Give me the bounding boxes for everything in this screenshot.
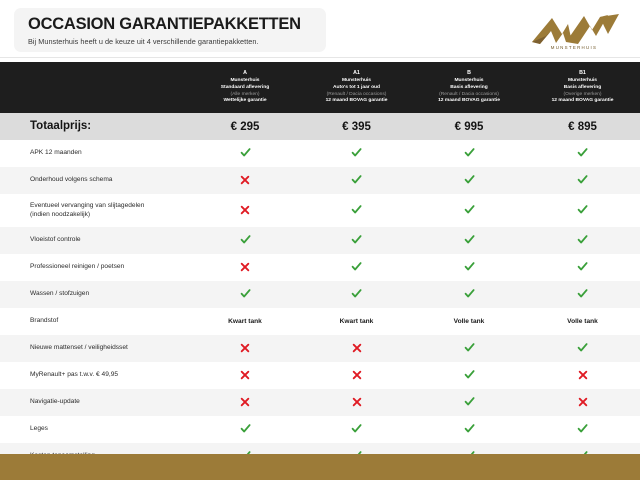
cross-icon [578,397,588,407]
check-icon [577,261,588,272]
page-subtitle: Bij Munsterhuis heeft u de keuze uit 4 v… [28,37,314,46]
table-row: BrandstofKwart tankKwart tankVolle tankV… [0,308,640,335]
check-icon [240,423,251,434]
table-row: APK 12 maanden [0,140,640,167]
check-icon [464,396,475,407]
page-title: OCCASION GARANTIEPAKKETTEN [28,16,314,33]
total-price-label: Totaalprijs: [0,119,190,134]
check-mark [464,261,475,272]
check-mark [577,261,588,272]
cell-included [190,234,300,247]
column-package: Basis aflevering [413,85,525,92]
cell-included [190,147,300,160]
feature-label: Navigatie-update [0,398,190,407]
feature-label: APK 12 maanden [0,149,190,158]
cross-icon [240,397,250,407]
check-icon [464,261,475,272]
cell-excluded [190,175,300,187]
garantiepakketten-page: OCCASION GARANTIEPAKKETTEN Bij Munsterhu… [0,0,640,480]
cross-icon [240,205,250,215]
check-icon [351,288,362,299]
check-mark [464,342,475,353]
table-row: Wassen / stofzuigen [0,281,640,308]
check-mark [464,234,475,245]
cell-included [525,174,640,187]
cell-included [300,147,413,160]
check-icon [464,423,475,434]
column-header-a1: A1 Munsterhuis Auto's tot 1 jaar oud (Re… [300,70,413,106]
cell-included [413,174,525,187]
cell-included [300,234,413,247]
cell-text-value: Kwart tank [300,318,413,325]
cell-included [525,234,640,247]
column-code: B1 [525,70,640,78]
cell-included [413,261,525,274]
check-icon [464,204,475,215]
table-body: APK 12 maandenOnderhoud volgens schemaEv… [0,140,640,470]
check-icon [464,288,475,299]
check-icon [240,288,251,299]
cell-excluded [525,370,640,382]
column-header-b: B Munsterhuis Basis aflevering (Renault … [413,70,525,106]
cross-icon [352,397,362,407]
check-mark [577,174,588,185]
cell-included [525,423,640,436]
table-row: MyRenault+ pas t.w.v. € 49,95 [0,362,640,389]
check-mark [240,288,251,299]
cross-mark [578,370,588,380]
check-mark [351,174,362,185]
check-mark [464,147,475,158]
column-brand: Munsterhuis [190,78,300,85]
cross-mark [240,205,250,215]
column-package: Standaard aflevering [190,85,300,92]
cross-icon [352,343,362,353]
check-icon [351,204,362,215]
column-package: Basis aflevering [525,85,640,92]
header-divider [0,57,640,58]
check-mark [351,204,362,215]
cross-mark [240,370,250,380]
cell-value-text: Volle tank [454,318,485,325]
check-mark [464,423,475,434]
total-price-row: Totaalprijs: € 295 € 395 € 995 € 895 [0,113,640,140]
check-icon [351,234,362,245]
cell-included [300,423,413,436]
cell-text-value: Volle tank [525,318,640,325]
check-icon [351,147,362,158]
cross-mark [240,175,250,185]
cross-mark [352,370,362,380]
check-icon [351,423,362,434]
check-icon [351,261,362,272]
feature-label-line: (indien noodzakelijk) [30,211,182,220]
cell-included [413,234,525,247]
check-mark [464,369,475,380]
feature-label: Brandstof [0,317,190,326]
check-mark [351,234,362,245]
cell-excluded [300,397,413,409]
check-icon [351,174,362,185]
cell-included [300,261,413,274]
column-package: Auto's tot 1 jaar oud [300,85,413,92]
check-icon [577,204,588,215]
title-card: OCCASION GARANTIEPAKKETTEN Bij Munsterhu… [14,8,326,52]
cell-excluded [300,370,413,382]
check-icon [464,369,475,380]
feature-label: MyRenault+ pas t.w.v. € 49,95 [0,371,190,380]
cell-text-value: Volle tank [413,318,525,325]
check-icon [464,147,475,158]
cross-icon [240,262,250,272]
table-row: Vloeistof controle [0,227,640,254]
price-a1: € 395 [300,121,413,133]
comparison-table: A Munsterhuis Standaard aflevering (Alle… [0,62,640,470]
column-code: A [190,70,300,78]
price-b: € 995 [413,121,525,133]
column-brand: Munsterhuis [300,78,413,85]
check-icon [577,423,588,434]
feature-label-line: Eventueel vervanging van slijtagedelen [30,202,182,211]
check-mark [577,288,588,299]
column-brand: Munsterhuis [413,78,525,85]
cross-mark [352,343,362,353]
check-icon [240,234,251,245]
column-header-a: A Munsterhuis Standaard aflevering (Alle… [190,70,300,106]
cell-excluded [190,205,300,217]
cell-excluded [190,397,300,409]
check-icon [464,234,475,245]
cell-excluded [190,343,300,355]
feature-label: Vloeistof controle [0,236,190,245]
feature-label: Nieuwe mattenset / veiligheidsset [0,344,190,353]
check-mark [577,234,588,245]
cell-included [300,174,413,187]
cell-included [413,204,525,217]
check-mark [351,423,362,434]
check-mark [577,423,588,434]
check-mark [351,147,362,158]
check-icon [577,234,588,245]
cross-icon [578,370,588,380]
cell-value-text: Kwart tank [228,318,262,325]
logo-wordmark: MUNSTERHUIS [551,45,598,50]
check-mark [577,204,588,215]
cross-icon [352,370,362,380]
column-brand: Munsterhuis [525,78,640,85]
cell-included [525,288,640,301]
column-warranty: 12 maand BOVAG garantie [525,98,640,105]
check-mark [577,147,588,158]
check-mark [464,174,475,185]
check-mark [240,423,251,434]
check-mark [464,288,475,299]
check-mark [240,147,251,158]
check-icon [464,342,475,353]
feature-label: Onderhoud volgens schema [0,176,190,185]
column-header-b1: B1 Munsterhuis Basis aflevering (Overige… [525,70,640,106]
table-row: Leges [0,416,640,443]
cross-icon [240,343,250,353]
column-code: B [413,70,525,78]
price-b1: € 895 [525,121,640,133]
cell-included [413,369,525,382]
cell-text-value: Kwart tank [190,318,300,325]
cell-included [525,342,640,355]
cell-included [190,288,300,301]
cross-mark [240,397,250,407]
price-a: € 295 [190,121,300,133]
table-row: Navigatie-update [0,389,640,416]
cell-included [525,147,640,160]
column-warranty: 12 maand BOVAG garantie [413,98,525,105]
table-row: Eventueel vervanging van slijtagedelen(i… [0,194,640,227]
column-code: A1 [300,70,413,78]
munsterhuis-logo: MUNSTERHUIS [522,12,626,52]
check-mark [351,261,362,272]
cell-excluded [190,370,300,382]
table-row: Nieuwe mattenset / veiligheidsset [0,335,640,362]
check-icon [577,147,588,158]
cell-included [413,423,525,436]
table-header-row: A Munsterhuis Standaard aflevering (Alle… [0,62,640,113]
cross-mark [578,397,588,407]
cell-included [525,204,640,217]
check-icon [240,147,251,158]
check-mark [351,288,362,299]
table-row: Onderhoud volgens schema [0,167,640,194]
check-mark [577,342,588,353]
feature-label: Eventueel vervanging van slijtagedelen(i… [0,202,190,219]
cross-mark [240,343,250,353]
check-icon [577,342,588,353]
cell-excluded [190,262,300,274]
cross-mark [352,397,362,407]
cell-included [413,147,525,160]
cell-included [300,288,413,301]
cell-value-text: Kwart tank [340,318,374,325]
cell-included [300,204,413,217]
page-header: OCCASION GARANTIEPAKKETTEN Bij Munsterhu… [0,0,640,62]
check-icon [577,288,588,299]
cross-icon [240,175,250,185]
cell-included [525,261,640,274]
cell-included [413,396,525,409]
cell-value-text: Volle tank [567,318,598,325]
column-warranty: Wettelijke garantie [190,98,300,105]
check-mark [464,396,475,407]
check-mark [240,234,251,245]
feature-label: Wassen / stofzuigen [0,290,190,299]
table-row: Professioneel reinigen / poetsen [0,254,640,281]
cell-included [413,342,525,355]
footer-accent-bar [0,454,640,480]
cross-icon [240,370,250,380]
cell-included [413,288,525,301]
cell-excluded [300,343,413,355]
feature-label: Leges [0,425,190,434]
check-icon [464,174,475,185]
cell-excluded [525,397,640,409]
check-mark [464,204,475,215]
munsterhuis-logo-icon: MUNSTERHUIS [522,12,626,52]
check-icon [577,174,588,185]
column-warranty: 12 maand BOVAG garantie [300,98,413,105]
feature-label: Professioneel reinigen / poetsen [0,263,190,272]
cross-mark [240,262,250,272]
cell-included [190,423,300,436]
